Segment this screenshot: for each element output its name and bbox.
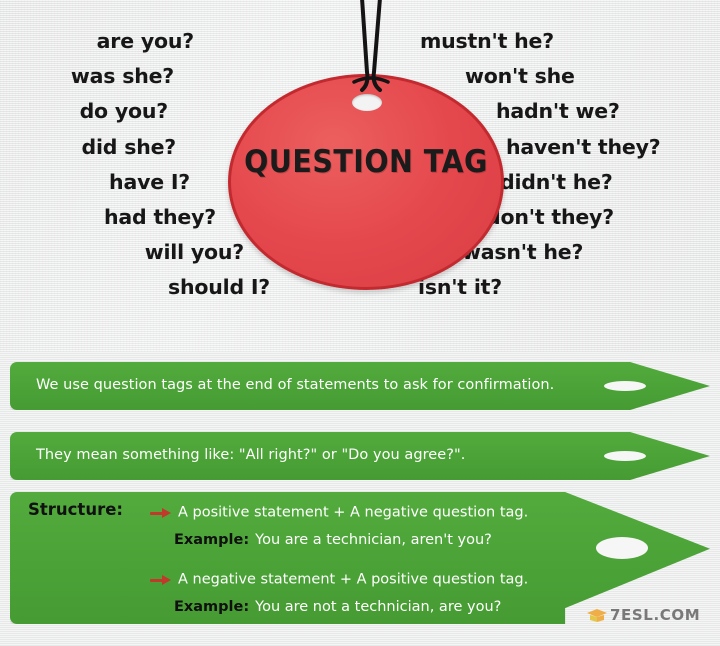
question-tag-item: mustn't he? <box>420 24 700 59</box>
question-tag-badge: QUESTION TAG <box>228 58 504 290</box>
question-tag-item: do you? <box>0 94 168 129</box>
question-tag-item: are you? <box>0 24 194 59</box>
watermark-text: 7ESL.COM <box>610 606 700 624</box>
tag-string-icon <box>336 0 406 108</box>
question-tag-item: don't they? <box>486 200 700 235</box>
question-tag-item: did she? <box>0 130 176 165</box>
structure-rule-1: A positive statement + A negative questi… <box>150 502 528 521</box>
structure-example-1-label: Example: <box>174 532 249 548</box>
structure-example-2: Example:You are not a technician, are yo… <box>174 596 501 615</box>
banner-3-hole <box>596 537 648 559</box>
structure-rule-1-text: A positive statement + A negative questi… <box>178 505 528 521</box>
structure-rule-2: A negative statement + A positive questi… <box>150 569 528 588</box>
tag-title: QUESTION TAG <box>239 144 493 180</box>
watermark: 7ESL.COM <box>586 606 700 624</box>
structure-rule-2-text: A negative statement + A positive questi… <box>178 572 528 588</box>
structure-example-1: Example:You are a technician, aren't you… <box>174 529 492 548</box>
arrow-right-icon <box>150 507 172 519</box>
tag-hole <box>352 94 382 111</box>
structure-example-2-label: Example: <box>174 599 249 615</box>
graduation-cap-icon <box>586 607 608 623</box>
infographic-page: are you? was she? do you? did she? have … <box>0 0 720 646</box>
banner-2-hole <box>604 451 646 461</box>
question-tag-item: didn't he? <box>500 165 700 200</box>
banner-1-text: We use question tags at the end of state… <box>36 377 554 393</box>
question-tag-item: was she? <box>0 59 174 94</box>
structure-label: Structure: <box>28 500 123 519</box>
structure-example-1-text: You are a technician, aren't you? <box>255 532 492 548</box>
question-tag-item: have I? <box>0 165 190 200</box>
arrow-right-icon <box>150 574 172 586</box>
question-tag-list-left: are you? was she? do you? did she? have … <box>0 24 252 306</box>
question-tag-item: had they? <box>0 200 216 235</box>
question-tag-item: haven't they? <box>506 130 700 165</box>
question-tag-item: hadn't we? <box>496 94 700 129</box>
banner-1-hole <box>604 381 646 391</box>
structure-example-2-text: You are not a technician, are you? <box>255 599 501 615</box>
question-tag-item: will you? <box>0 235 244 270</box>
banner-2-text: They mean something like: "All right?" o… <box>36 447 465 463</box>
